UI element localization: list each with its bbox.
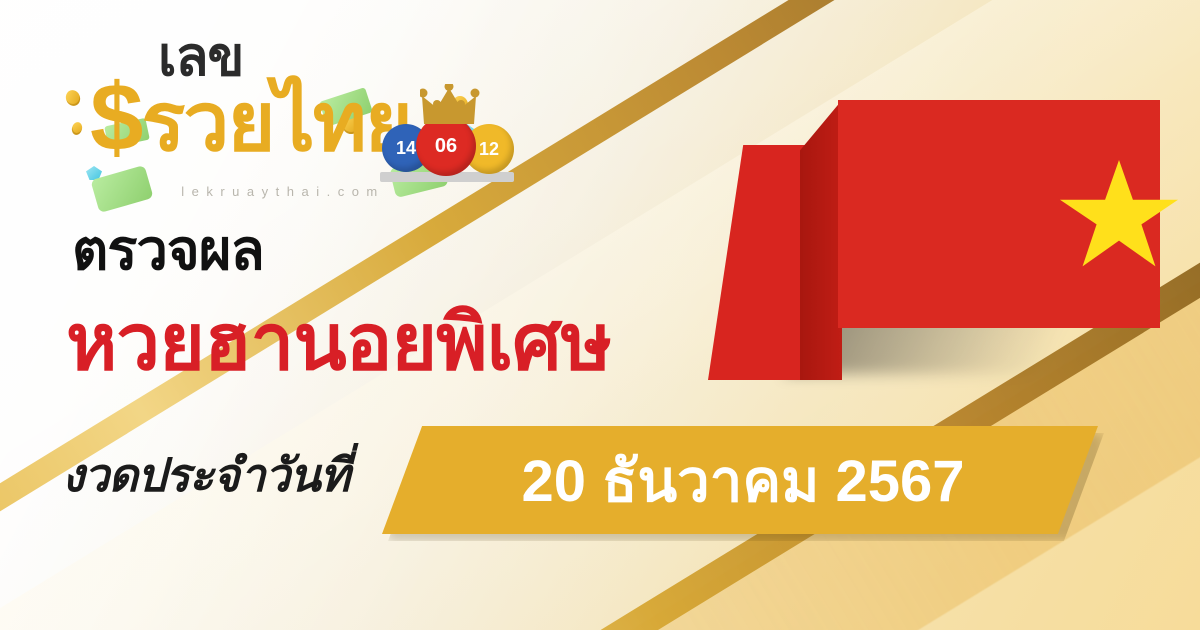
- coin-icon: [64, 88, 83, 108]
- logo-wordmark-main: $รวยไทย: [90, 70, 411, 166]
- draw-date-value: 20 ธันวาคม 2567: [382, 426, 1098, 534]
- site-logo[interactable]: 14 12 06 $รวยไทย เลข lekruaythai.com: [60, 18, 480, 208]
- flag-fold-spine: [800, 100, 842, 380]
- page-title: หวยฮานอยพิเศษ: [66, 300, 611, 386]
- flag-face: [838, 100, 1160, 328]
- lottery-ball-cluster: 14 12 06: [380, 80, 530, 200]
- logo-wordmark-top: เลข: [158, 30, 243, 84]
- draw-date-label: งวดประจำวันที่: [62, 452, 349, 498]
- page-subtitle-check-result: ตรวจผล: [72, 222, 264, 278]
- draw-date-ribbon: 20 ธันวาคม 2567: [382, 426, 1098, 534]
- promo-banner: 14 12 06 $รวยไทย เลข lekruaythai.com ตรว…: [0, 0, 1200, 630]
- coin-icon: [70, 121, 83, 136]
- crown-icon: [420, 84, 494, 128]
- vietnam-flag: [700, 100, 1160, 400]
